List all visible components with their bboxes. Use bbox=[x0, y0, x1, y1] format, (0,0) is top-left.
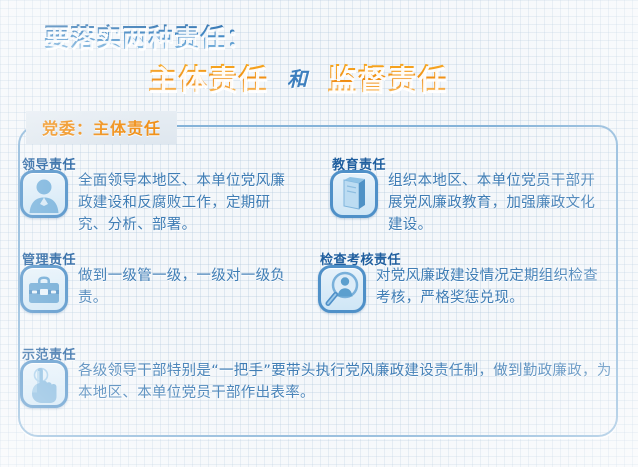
infographic-poster: 要落实两种责任： 主体责任 和 监督责任 党委：主体责任 领导责任 全面领导本地… bbox=[0, 0, 638, 467]
person-icon bbox=[20, 170, 68, 218]
subtitle-conjunction: 和 bbox=[279, 63, 316, 92]
panel-badge: 党委：主体责任 bbox=[26, 111, 177, 144]
briefcase-icon bbox=[20, 265, 68, 313]
item-text: 组织本地区、本单位党员干部开展党风廉政教育，加强廉政文化建设。 bbox=[388, 170, 604, 236]
subtitle: 主体责任 和 监督责任 bbox=[148, 56, 447, 98]
book-icon bbox=[330, 170, 378, 218]
subtitle-supervision-responsibility: 监督责任 bbox=[327, 62, 447, 96]
hand-pointing-icon bbox=[20, 360, 68, 408]
item-text: 对党风廉政建设情况定期组织检查考核，严格奖惩兑现。 bbox=[376, 265, 606, 309]
item-text: 做到一级管一级，一级对一级负责。 bbox=[78, 265, 294, 309]
page-title: 要落实两种责任： bbox=[44, 18, 252, 54]
item-text: 各级领导干部特别是“一把手”要带头执行党风廉政建设责任制，做到勤政廉政，为本地区… bbox=[78, 360, 618, 404]
subtitle-primary-responsibility: 主体责任 bbox=[148, 62, 268, 96]
magnifier-person-icon bbox=[318, 265, 366, 313]
item-text: 全面领导本地区、本单位党风廉政建设和反腐败工作，定期研究、分析、部署。 bbox=[78, 170, 294, 236]
